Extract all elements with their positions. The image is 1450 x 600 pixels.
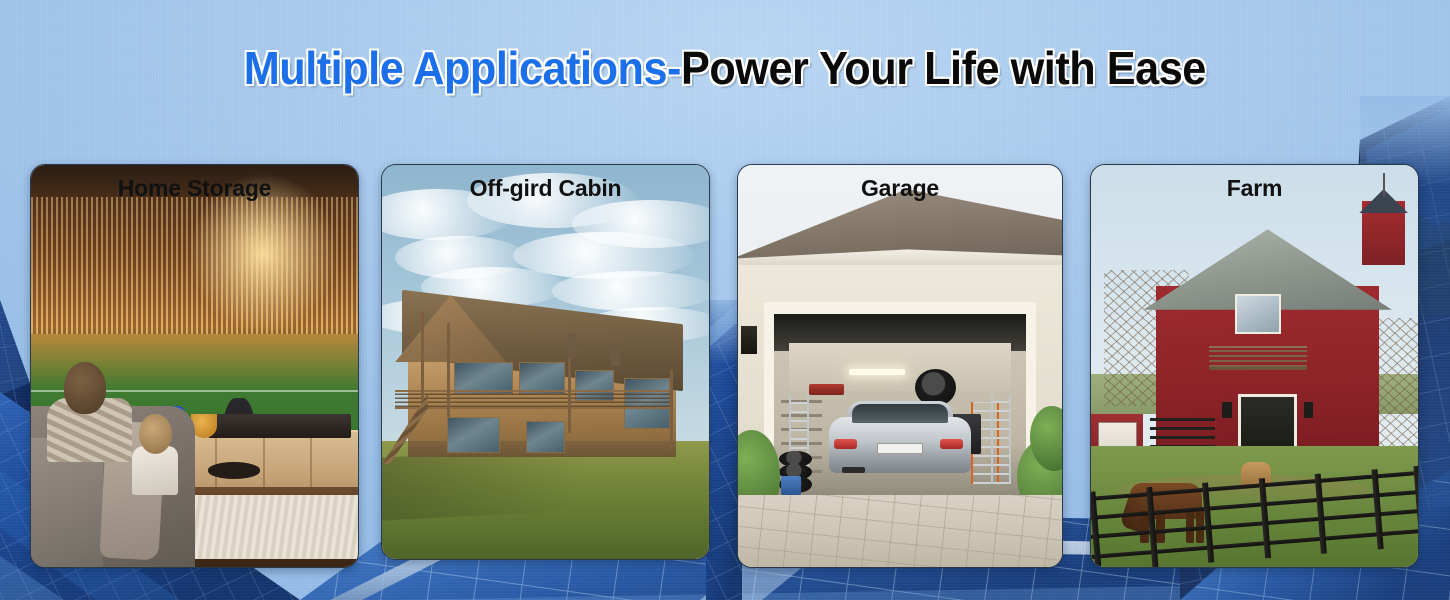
ladder-icon	[991, 395, 1011, 484]
adult-figure-head	[64, 362, 107, 414]
card-label-garage: Garage	[738, 175, 1062, 202]
garage-opening	[774, 314, 1027, 499]
cabin-window	[447, 417, 499, 452]
barn-lamp-icon	[1222, 402, 1232, 418]
title-primary-text: Power Your Life with Ease	[681, 42, 1206, 94]
application-banner: Multiple Applications-Power Your Life wi…	[0, 0, 1450, 600]
child-figure-head	[139, 414, 172, 454]
cloud	[552, 271, 710, 310]
cabin-scene	[382, 165, 709, 559]
card-label-farm: Farm	[1091, 175, 1418, 202]
barn-lamp-icon	[1304, 402, 1314, 418]
chimney	[611, 346, 620, 366]
card-label-off-grid-cabin: Off-gird Cabin	[382, 175, 709, 202]
cabin-deck-railing	[395, 390, 670, 410]
license-plate	[877, 443, 922, 454]
barn-window	[1235, 294, 1281, 334]
card-label-home-storage: Home Storage	[31, 175, 358, 202]
exhaust-pipe	[842, 467, 865, 473]
cabin-window	[526, 421, 565, 453]
card-home-storage[interactable]: Home Storage	[30, 164, 359, 568]
title-accent-text: Multiple Applications-	[244, 42, 681, 94]
card-farm[interactable]: Farm	[1090, 164, 1419, 568]
home-storage-scene	[31, 165, 358, 567]
tail-light	[940, 439, 963, 448]
page-title: Multiple Applications-Power Your Life wi…	[244, 44, 1206, 92]
tail-light	[834, 439, 857, 448]
wall-sign	[809, 384, 844, 395]
porch-lamp-icon	[741, 326, 757, 354]
barn-balcony	[1209, 346, 1307, 370]
card-off-grid-cabin[interactable]: Off-gird Cabin	[381, 164, 710, 560]
farm-scene	[1091, 165, 1418, 567]
card-garage[interactable]: Garage	[737, 164, 1063, 568]
coffee-table	[208, 462, 260, 478]
storage-bin	[781, 476, 801, 494]
garage-light-icon	[849, 369, 905, 375]
banner-headline: Multiple Applications-Power Your Life wi…	[0, 44, 1450, 92]
garage-scene	[738, 165, 1062, 567]
paver-driveway	[738, 495, 1062, 567]
media-console	[208, 414, 352, 438]
area-rug	[171, 495, 359, 559]
car-rear-window	[852, 404, 948, 422]
chimney	[568, 334, 577, 358]
